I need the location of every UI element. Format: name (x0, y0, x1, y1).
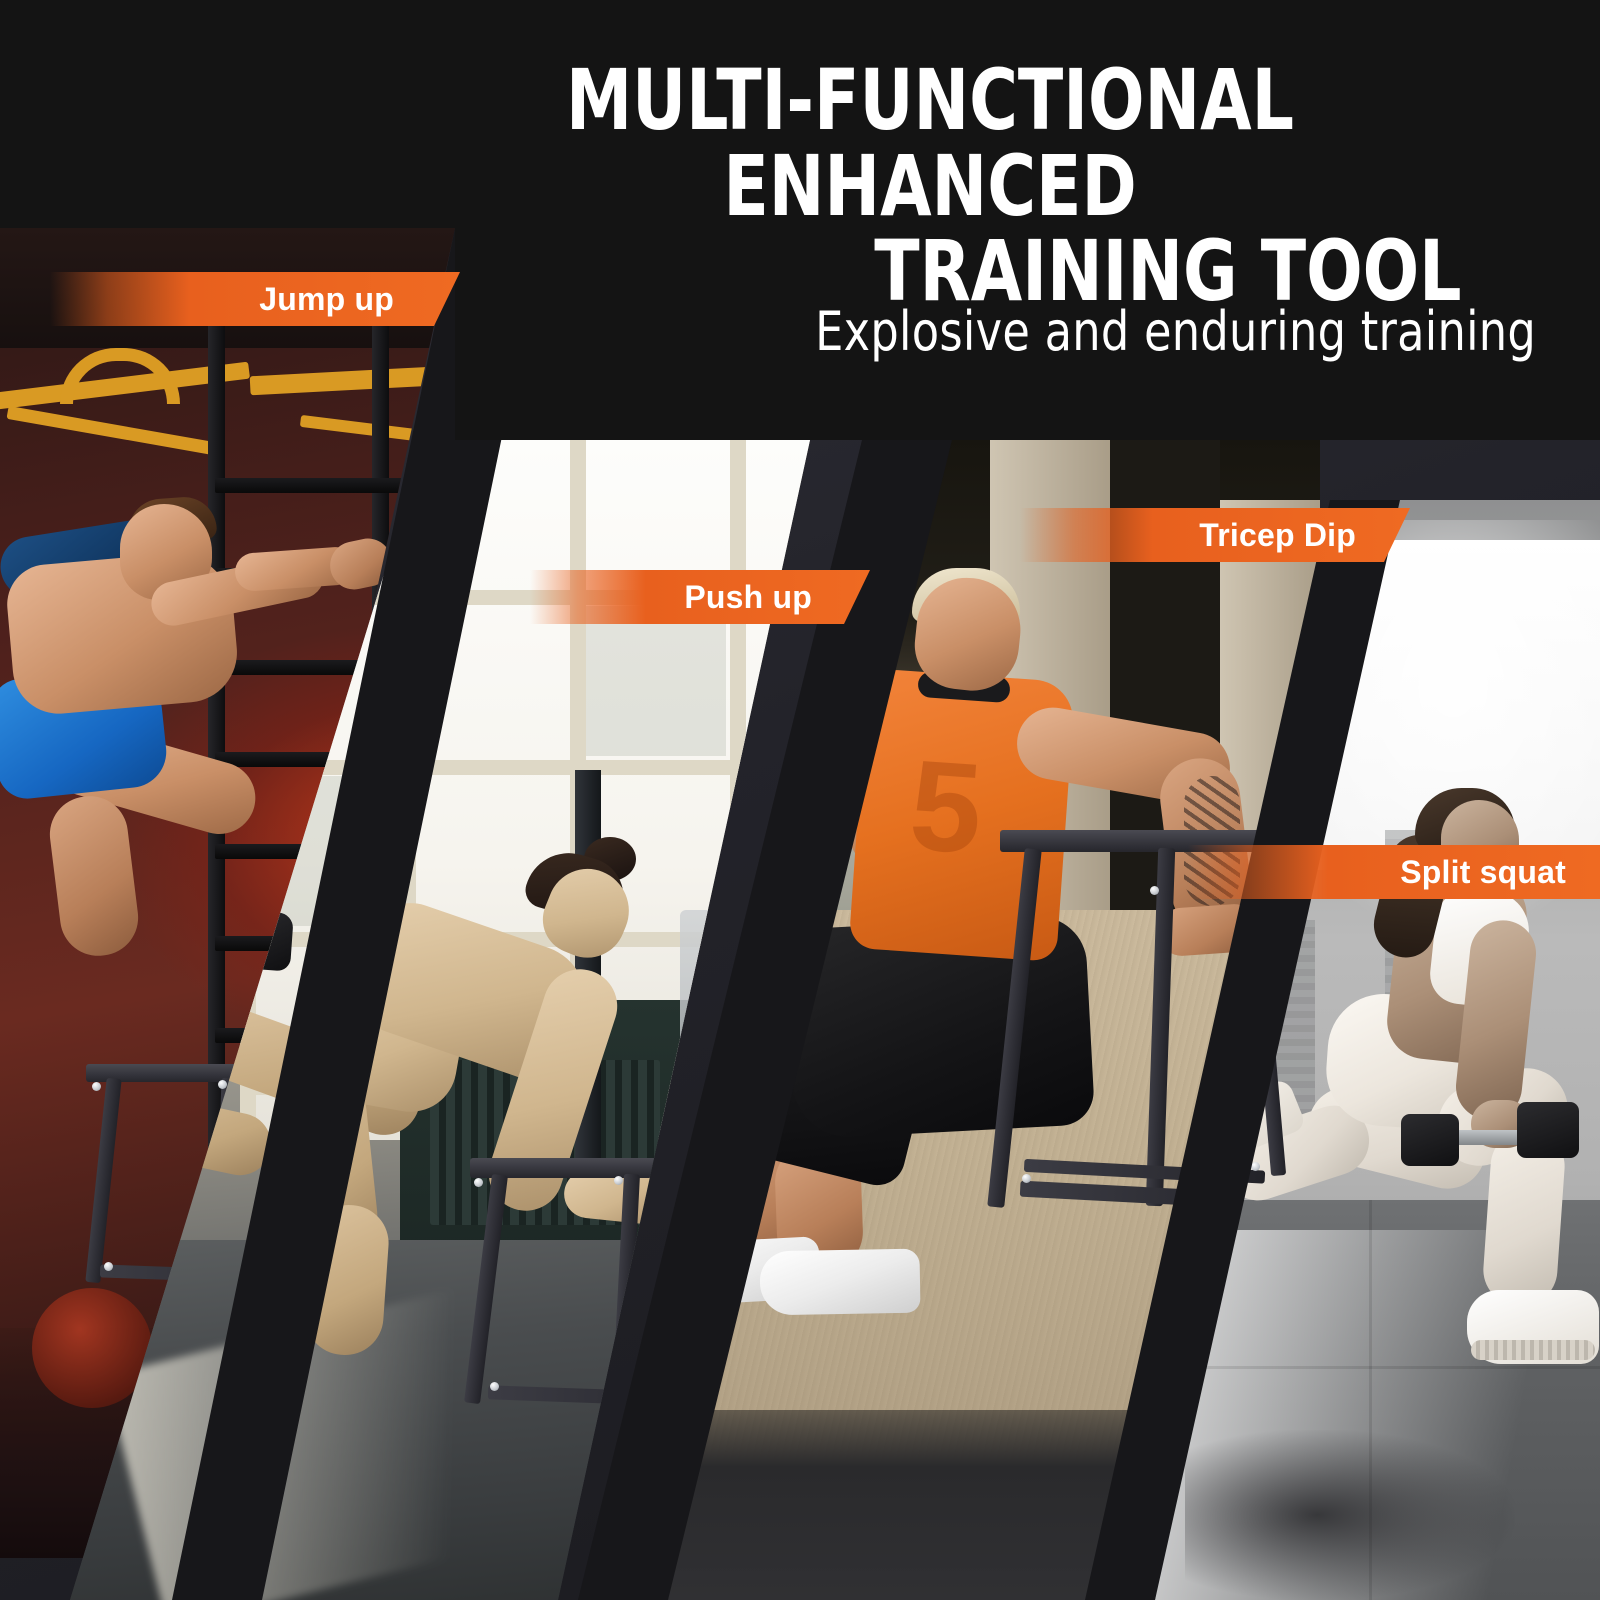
badge-label: Jump up (259, 281, 394, 318)
badge-label: Tricep Dip (1199, 517, 1356, 554)
plyo-box-bolt (474, 1178, 483, 1187)
title-line-1: MULTI-FUNCTIONAL ENHANCED (376, 58, 1485, 229)
plyo-box-bolt (614, 1176, 623, 1185)
weight-plate (32, 1288, 152, 1408)
plyo-box-leg (1146, 848, 1175, 1206)
jersey-number: 5 (906, 742, 986, 875)
badge-label: Push up (684, 579, 812, 616)
product-poster: 5 (0, 0, 1600, 1600)
plyo-box-bolt (1251, 1162, 1260, 1171)
dumbbell (1517, 1102, 1579, 1158)
plyo-box-bolt (218, 1080, 227, 1089)
athlete-shoe-front (1467, 1290, 1599, 1364)
plyo-box-bolt (490, 1382, 499, 1391)
athlete-shoe (759, 1249, 920, 1316)
badge-push-up[interactable]: Push up (530, 570, 870, 624)
athlete-shin (46, 792, 143, 960)
plyo-box-bolt (92, 1082, 101, 1091)
dumbbell (1401, 1114, 1459, 1166)
badge-jump-up[interactable]: Jump up (50, 272, 460, 326)
badge-label: Split squat (1400, 854, 1566, 891)
badge-split-squat[interactable]: Split squat (1188, 845, 1600, 899)
badge-tricep-dip[interactable]: Tricep Dip (1020, 508, 1410, 562)
window-pane (586, 606, 726, 756)
plyo-box-bolt (1150, 886, 1159, 895)
plyo-box-leg (85, 1078, 121, 1283)
plyo-box-bolt (1022, 1174, 1031, 1183)
plyo-box-bolt (104, 1262, 113, 1271)
plyo-box-leg (464, 1174, 508, 1404)
badge-shape (50, 272, 460, 326)
